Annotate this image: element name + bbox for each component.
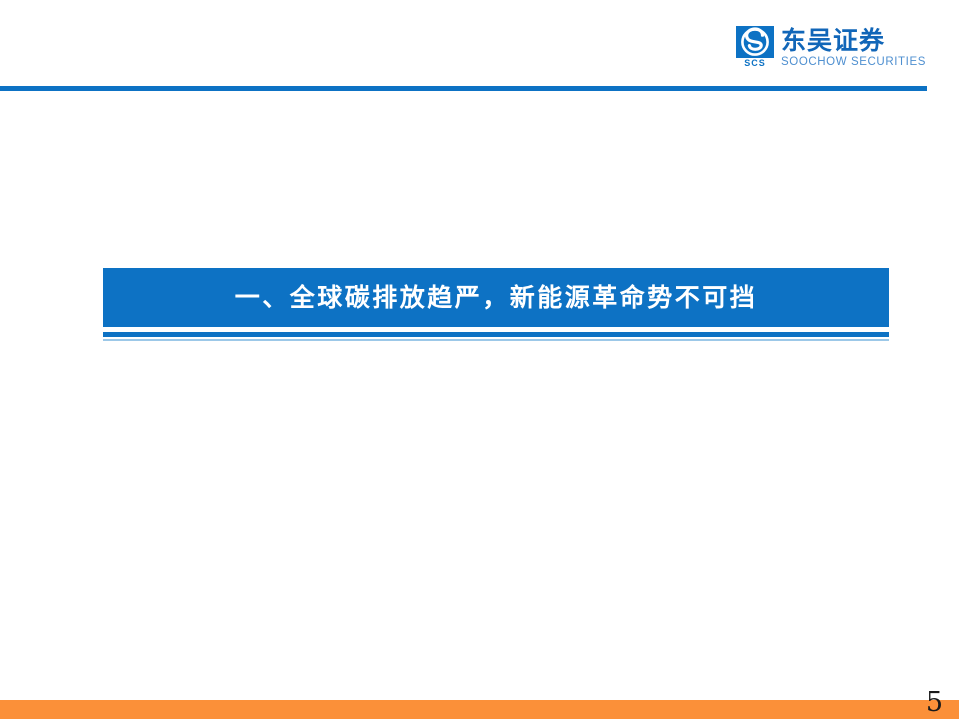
brand-name-en: SOOCHOW SECURITIES bbox=[781, 55, 926, 69]
header-divider-rule bbox=[0, 86, 927, 91]
section-underline-thick bbox=[103, 332, 889, 337]
brand-text-block: 东吴证券 SOOCHOW SECURITIES bbox=[781, 26, 926, 69]
slide-canvas: SCS 东吴证券 SOOCHOW SECURITIES 一、全球碳排放趋严，新能… bbox=[0, 0, 959, 719]
section-title-banner: 一、全球碳排放趋严，新能源革命势不可挡 bbox=[103, 268, 889, 327]
section-title-text: 一、全球碳排放趋严，新能源革命势不可挡 bbox=[235, 283, 758, 313]
soochow-securities-logo-icon: SCS bbox=[736, 26, 774, 68]
brand-name-cn: 东吴证券 bbox=[781, 27, 926, 54]
logo-swirl-icon bbox=[736, 26, 774, 58]
logo-abbrev-text: SCS bbox=[736, 59, 774, 68]
footer-accent-bar bbox=[0, 700, 959, 719]
section-underline-thin bbox=[103, 339, 889, 341]
page-number: 5 bbox=[926, 688, 943, 718]
brand-logo: SCS 东吴证券 SOOCHOW SECURITIES bbox=[736, 26, 926, 69]
